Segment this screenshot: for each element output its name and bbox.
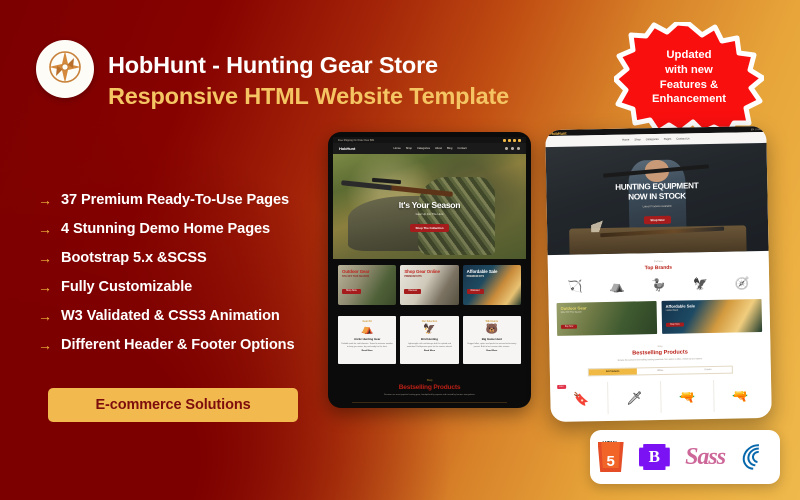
page-title: HobHunt - Hunting Gear Store Responsive …: [108, 52, 578, 110]
tent-icon: ⛺: [361, 324, 373, 336]
feature-card[interactable]: Our Selection 🦅 Bird Hunting Lightweight…: [400, 316, 458, 364]
badge-line-4: Enhancement: [652, 93, 726, 107]
camp-brand-icon[interactable]: ⛺: [609, 279, 624, 293]
section-heading: Top Brands: [554, 263, 763, 273]
tablet-mockup-right: HobHunt EN | USD Home Shop Categories Pa…: [545, 126, 772, 422]
feature-label: Bootstrap 5.x &SCSS: [61, 250, 207, 266]
promo-card-row: Outdoor Gear 50% OFF THIS SEASON Shop No…: [333, 259, 526, 311]
feature-label: Fully Customizable: [61, 279, 192, 295]
list-item: → Bootstrap 5.x &SCSS: [38, 243, 294, 272]
badge-line-3: Features &: [660, 79, 718, 93]
topbar-text: Free Shipping On Order Over $99: [338, 139, 374, 142]
list-item: → Different Header & Footer Options: [38, 330, 294, 359]
nav-links: Home Shop Categories Pages Contact Us: [622, 137, 689, 141]
read-more-link[interactable]: Read More: [424, 350, 435, 352]
site-logo[interactable]: HobHunt: [339, 146, 355, 151]
promo-card[interactable]: Shop Gear Online PREMIUM KITS Discover: [400, 265, 458, 305]
tab-all-products[interactable]: All Products: [589, 368, 637, 376]
product-grid: SALE 🔖 🗡 🔫 🔫: [550, 376, 772, 415]
nav-link[interactable]: Shop: [406, 147, 412, 150]
arrow-right-icon: →: [38, 280, 52, 294]
promo-button[interactable]: Shop Now: [342, 289, 361, 294]
feature-card[interactable]: Gear Kit ⛺ Arctic Hunting Gear Reliable …: [338, 316, 396, 364]
bestselling-section: Shop Bestselling Products Browse the sea…: [549, 338, 771, 381]
hero-heading: It's Your Season: [333, 200, 526, 210]
rifle-icon: 🔫: [679, 389, 695, 404]
nav-links: Home Shop Categories About Blog Contact: [394, 147, 467, 150]
badge-text: Updated with new Features & Enhancement: [614, 22, 764, 134]
nav-link[interactable]: Contact Us: [676, 137, 689, 140]
tech-stack-badges: HTML 5 B Sass: [590, 430, 780, 484]
social-icons: [503, 139, 521, 142]
hero-subheading: Gear Up For The Hunt: [333, 212, 526, 216]
shotgun-icon: 🔫: [732, 388, 748, 403]
top-brands-section: Partners Top Brands 🏹 ⛺ 🦆 🦅 🧭: [548, 251, 770, 301]
product-card[interactable]: 🔫: [713, 379, 767, 412]
list-item: → 4 Stunning Demo Home Pages: [38, 214, 294, 243]
tablet-mockup-left: Free Shipping On Order Over $99 HobHunt …: [328, 132, 531, 408]
promo-banner-row: Outdoor Gear 50% OFF This Season Buy Now…: [549, 297, 771, 342]
cart-icon[interactable]: [517, 147, 520, 150]
nav-link[interactable]: Pages: [664, 138, 672, 141]
feature-label: 37 Premium Ready-To-Use Pages: [61, 192, 289, 208]
bird-icon: 🦅: [423, 324, 435, 336]
crossed-arrows-brand-icon[interactable]: 🏹: [568, 279, 583, 293]
arrow-right-icon: →: [38, 338, 52, 352]
website-preview-left: Free Shipping On Order Over $99 HobHunt …: [333, 137, 526, 403]
logo-badge: [36, 40, 94, 98]
feature-label: W3 Validated & CSS3 Animation: [61, 308, 280, 324]
locale-selector[interactable]: EN | USD: [751, 128, 761, 131]
nav-link[interactable]: About: [435, 147, 442, 150]
section-heading: Bestselling Products: [338, 384, 521, 391]
hero-cta-button[interactable]: Shop The Collection: [410, 224, 450, 232]
search-icon[interactable]: [505, 147, 508, 150]
feature-card-row: Gear Kit ⛺ Arctic Hunting Gear Reliable …: [333, 311, 526, 372]
nav-actions: [505, 147, 520, 150]
bestselling-section: Shop Bestselling Products Discover our m…: [333, 372, 526, 403]
hero-cta-button[interactable]: Shop Now: [644, 215, 670, 224]
ecommerce-solutions-button[interactable]: E-commerce Solutions: [48, 388, 298, 422]
brand-row: [36, 40, 94, 98]
promo-button[interactable]: Discover: [467, 289, 484, 294]
product-card[interactable]: 🗡: [607, 381, 661, 414]
nav-link[interactable]: Categories: [646, 138, 659, 141]
promo-button[interactable]: Shop Now: [666, 322, 684, 327]
feature-list: → 37 Premium Ready-To-Use Pages → 4 Stun…: [38, 185, 294, 359]
status-badge: SALE: [557, 385, 566, 389]
feature-label: 4 Stunning Demo Home Pages: [61, 221, 270, 237]
nav-link[interactable]: Contact: [457, 147, 466, 150]
compass-star-icon: [47, 49, 83, 90]
promo-button[interactable]: Discover: [404, 289, 421, 294]
website-preview-right: HobHunt EN | USD Home Shop Categories Pa…: [545, 126, 772, 422]
nav-link[interactable]: Categories: [417, 147, 430, 150]
jquery-logo: [740, 443, 772, 471]
badge-line-2: with new: [665, 64, 713, 78]
arrow-right-icon: →: [38, 193, 52, 207]
product-card[interactable]: 🔫: [660, 380, 714, 413]
section-heading: Bestselling Products: [555, 348, 764, 358]
starburst-badge: Updated with new Features & Enhancement: [614, 22, 764, 134]
title-line-1: HobHunt - Hunting Gear Store: [108, 52, 578, 80]
hero-banner: HUNTING EQUIPMENT NOW IN STOCK Latest Pr…: [546, 143, 769, 255]
product-tabs: All Products Rifles Knives: [588, 365, 733, 376]
site-logo[interactable]: HobHunt: [550, 130, 566, 135]
arrow-right-icon: →: [38, 222, 52, 236]
hero-text: It's Your Season Gear Up For The Hunt Sh…: [333, 200, 526, 234]
nav-link[interactable]: Shop: [634, 138, 640, 141]
site-navbar: HobHunt Home Shop Categories About Blog …: [333, 143, 526, 154]
tab-rifles[interactable]: Rifles: [636, 367, 684, 375]
hero-subheading: Latest Products Available: [547, 203, 768, 210]
product-tabs: All Products Rifles Clothing: [352, 402, 507, 403]
list-item: → 37 Premium Ready-To-Use Pages: [38, 185, 294, 214]
tab-knives[interactable]: Knives: [684, 366, 732, 374]
hero-text: HUNTING EQUIPMENT NOW IN STOCK Latest Pr…: [546, 180, 768, 228]
product-card[interactable]: SALE 🔖: [555, 382, 608, 415]
bear-icon: 🐻: [486, 324, 498, 336]
twitter-icon[interactable]: [508, 139, 511, 142]
html5-logo: HTML 5: [598, 442, 624, 472]
badge-line-1: Updated: [666, 49, 711, 63]
read-more-link[interactable]: Read More: [486, 350, 497, 352]
title-line-2: Responsive HTML Website Template: [108, 82, 578, 111]
hunting-knife-icon: 🗡: [626, 390, 643, 405]
arrow-right-icon: →: [38, 309, 52, 323]
bootstrap-logo: B: [639, 444, 670, 470]
promo-card[interactable]: Affordable Sale PREMIUM KITS Discover: [463, 265, 521, 305]
facebook-icon[interactable]: [503, 139, 506, 142]
brand-logo-row: 🏹 ⛺ 🦆 🦅 🧭: [554, 276, 763, 294]
list-item: → W3 Validated & CSS3 Animation: [38, 301, 294, 330]
duck-brand-icon[interactable]: 🦆: [651, 278, 666, 292]
feature-card[interactable]: Wild Hunts 🐻 Big Game Hunt Rugged rifles…: [463, 316, 521, 364]
promo-card[interactable]: Outdoor Gear 50% OFF THIS SEASON Shop No…: [338, 265, 396, 305]
feature-label: Different Header & Footer Options: [61, 337, 294, 353]
hero-banner: It's Your Season Gear Up For The Hunt Sh…: [333, 154, 526, 259]
youtube-icon[interactable]: [513, 139, 516, 142]
promo-banner[interactable]: Outdoor Gear 50% OFF This Season Buy Now: [557, 301, 658, 336]
promo-button[interactable]: Buy Now: [561, 324, 577, 329]
binoculars-icon: 🔖: [573, 391, 589, 406]
arrow-right-icon: →: [38, 251, 52, 265]
instagram-icon[interactable]: [518, 139, 521, 142]
eagle-crest-brand-icon[interactable]: 🦅: [693, 277, 708, 291]
promo-copy-panel: HobHunt - Hunting Gear Store Responsive …: [0, 0, 330, 500]
nav-link[interactable]: Home: [394, 147, 401, 150]
nav-link[interactable]: Home: [622, 139, 629, 142]
compass-brand-icon[interactable]: 🧭: [735, 276, 750, 290]
read-more-link[interactable]: Read More: [362, 350, 373, 352]
list-item: → Fully Customizable: [38, 272, 294, 301]
user-icon[interactable]: [511, 147, 514, 150]
nav-link[interactable]: Blog: [447, 147, 452, 150]
sass-logo: Sass: [685, 444, 725, 471]
promo-banner[interactable]: Affordable Sale Limited Stock Shop Now: [662, 299, 763, 334]
